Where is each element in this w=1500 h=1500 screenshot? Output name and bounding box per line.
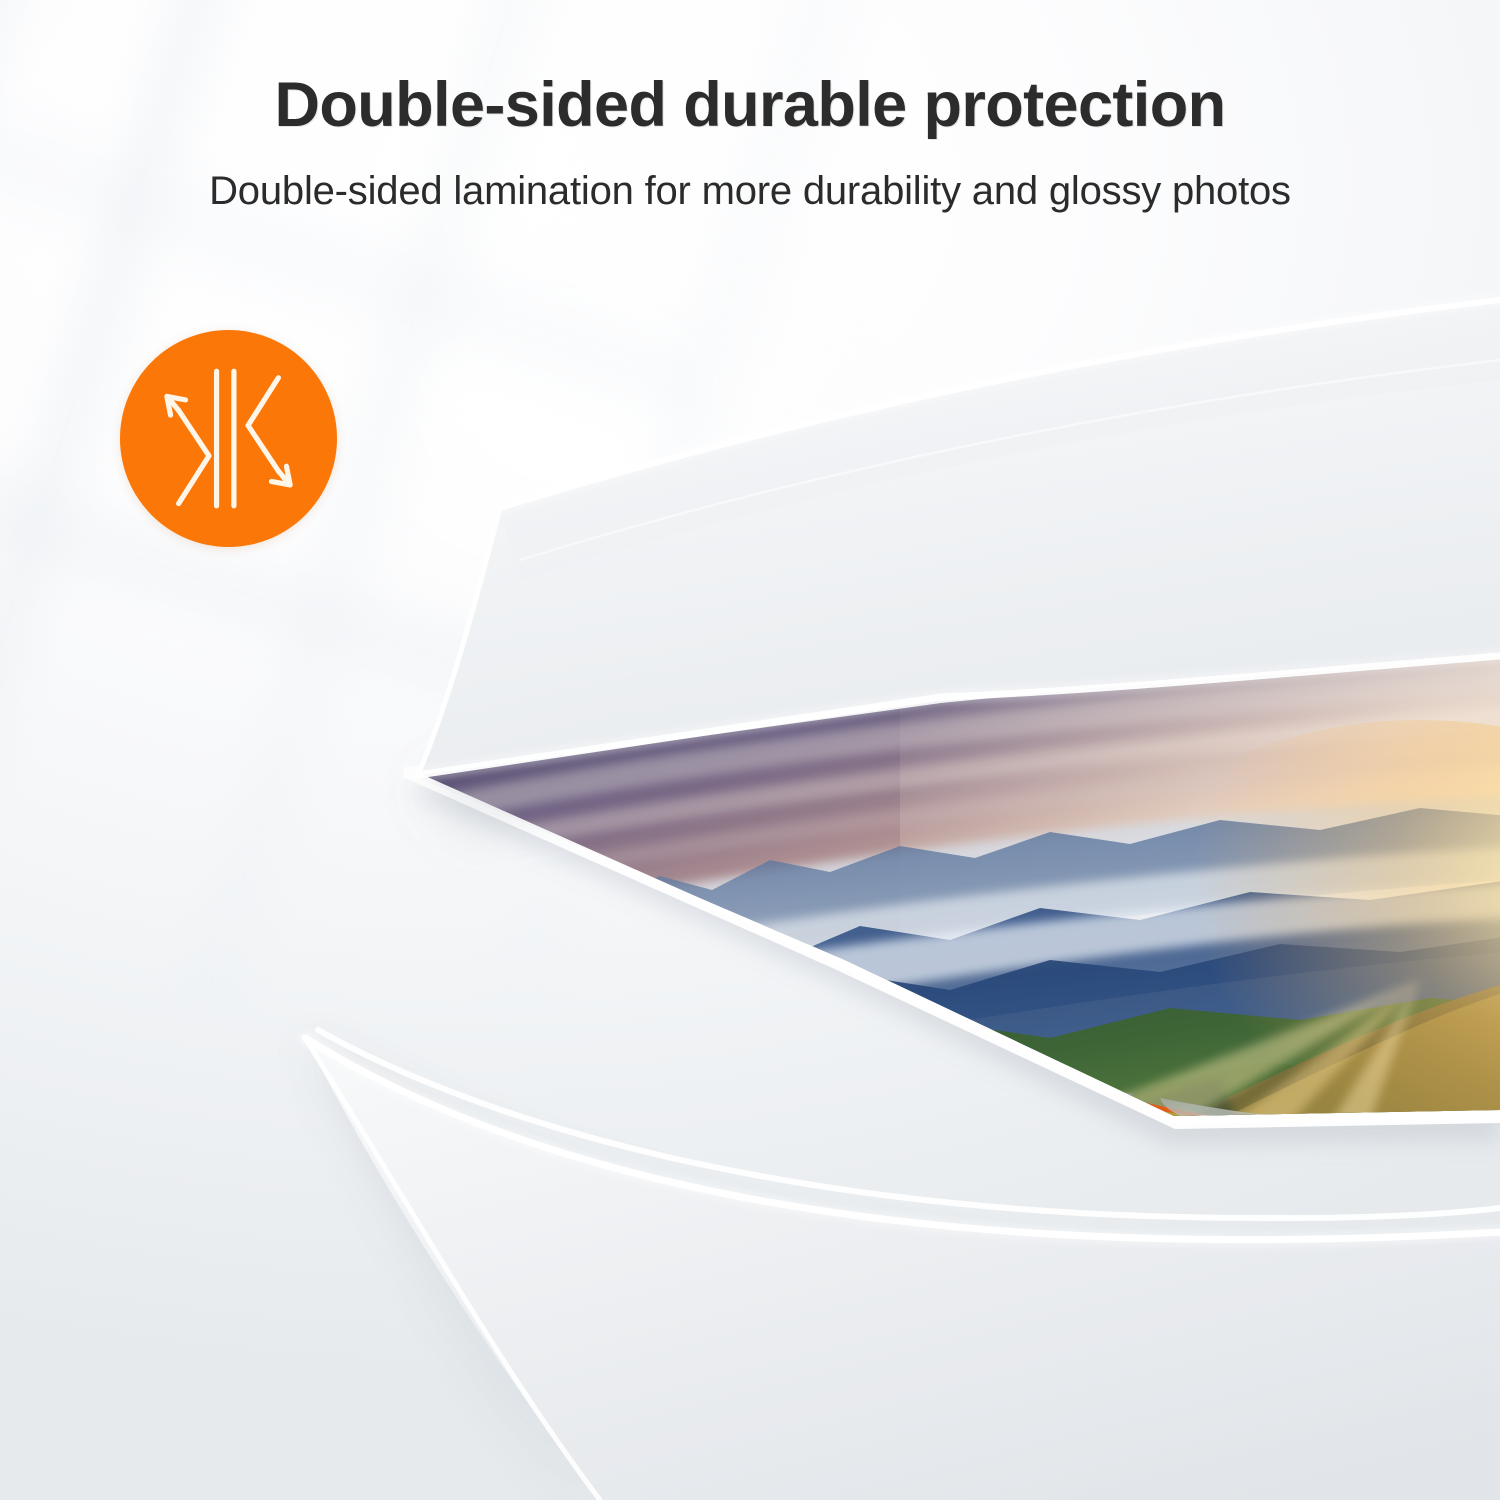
- background-gradient: [0, 0, 1500, 1500]
- product-feature-banner: Double-sided durable protection Double-s…: [0, 0, 1500, 1500]
- page-title: Double-sided durable protection: [0, 72, 1500, 138]
- page-subtitle: Double-sided lamination for more durabil…: [0, 168, 1500, 214]
- double-sided-lamination-badge: [120, 330, 337, 547]
- double-sided-lamination-icon: [120, 330, 337, 547]
